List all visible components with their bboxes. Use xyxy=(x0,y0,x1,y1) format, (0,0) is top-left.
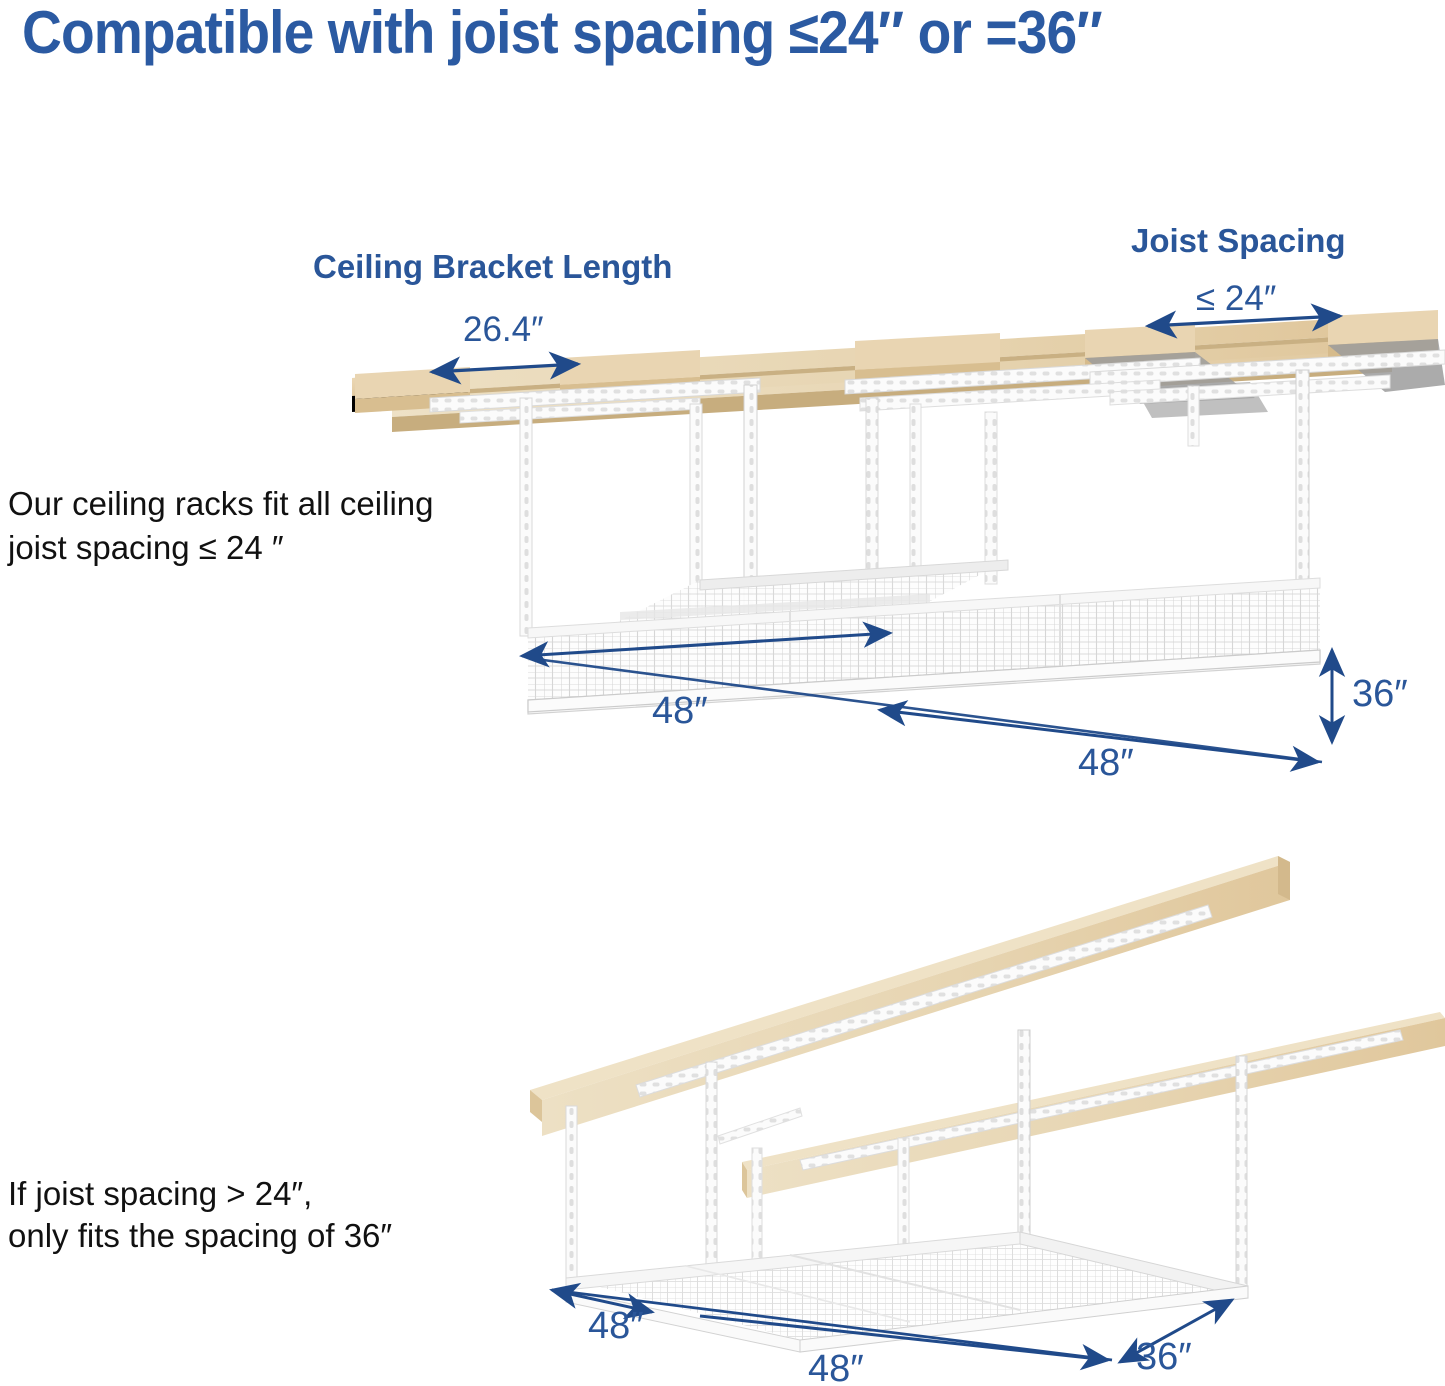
top-width-back-value: 48″ xyxy=(1078,742,1134,785)
bottom-rack-scene xyxy=(530,856,1445,1362)
bottom-description-line-2: only fits the spacing of 36″ xyxy=(8,1214,392,1258)
infographic-page: Compatible with joist spacing ≤24″ or =3… xyxy=(0,0,1445,1386)
joist-spacing-label: Joist Spacing xyxy=(1131,222,1346,260)
joist-spacing-value: ≤ 24″ xyxy=(1196,279,1276,319)
top-description-line-2: joist spacing ≤ 24 ″ xyxy=(8,526,284,570)
top-width-front-value: 48″ xyxy=(652,690,708,733)
bottom-width-front-value: 48″ xyxy=(588,1305,644,1348)
bottom-depth-value: 36″ xyxy=(1136,1336,1192,1379)
bracket-length-value: 26.4″ xyxy=(463,310,544,350)
top-rack-scene xyxy=(352,310,1445,762)
ceiling-bracket-length-label: Ceiling Bracket Length xyxy=(313,248,672,286)
bottom-description-line-1: If joist spacing > 24″, xyxy=(8,1172,312,1216)
bottom-width-back-value: 48″ xyxy=(808,1348,864,1386)
top-description-line-1: Our ceiling racks fit all ceiling xyxy=(8,482,434,526)
top-height-value: 36″ xyxy=(1352,673,1408,716)
bottom-joist-lower xyxy=(742,1012,1445,1198)
